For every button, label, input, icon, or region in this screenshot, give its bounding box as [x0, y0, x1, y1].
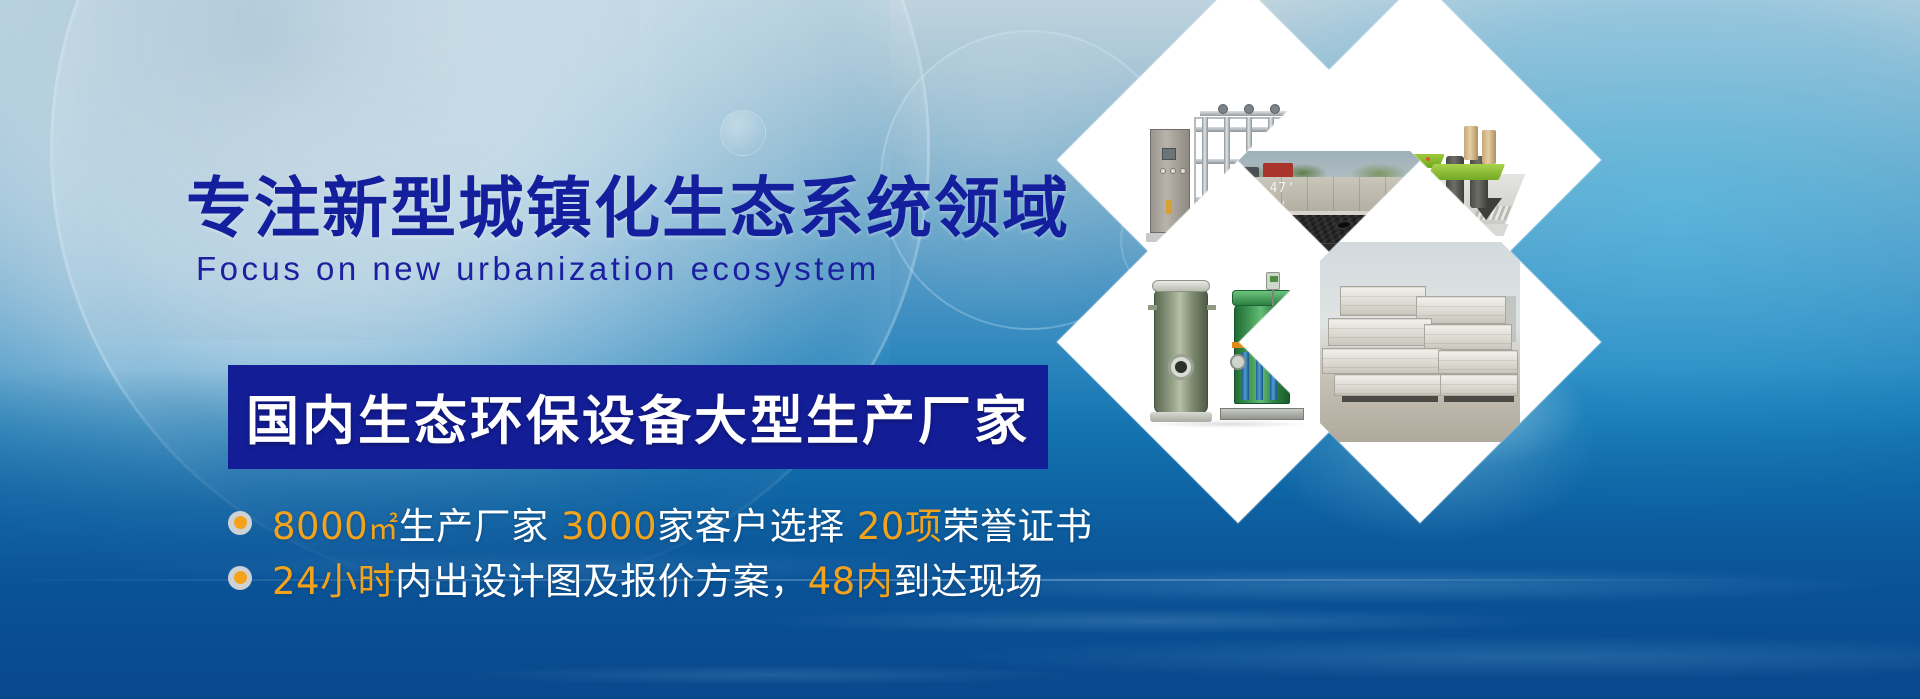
banner-bullet-item-1: 8000㎡生产厂家 3000家客户选择 20项荣誉证书 — [228, 495, 1092, 550]
banner-subheadline: Focus on new urbanization ecosystem — [196, 250, 880, 288]
banner-highlight-box-text: 国内生态环保设备大型生产厂家 — [246, 379, 1030, 455]
product-image-precast-concrete-panels — [1320, 242, 1520, 442]
banner-bullet-list: 8000㎡生产厂家 3000家客户选择 20项荣誉证书 24小时内出设计图及报价… — [228, 495, 1092, 605]
hero-banner: 专注新型城镇化生态系统领域 Focus on new urbanization … — [0, 0, 1920, 699]
bullet-text-2: 24小时内出设计图及报价方案，48内到达现场 — [272, 551, 1043, 605]
banner-bullet-item-2: 24小时内出设计图及报价方案，48内到达现场 — [228, 550, 1092, 605]
banner-headline: 专注新型城镇化生态系统领域 — [186, 176, 1070, 242]
bullet-dot-icon — [228, 566, 252, 590]
bullet-dot-icon — [228, 511, 252, 535]
product-diamond-grid: 39 47' 16'9' 2020-07-21 现场实拍 — [1120, 42, 1580, 662]
banner-copy-block: 专注新型城镇化生态系统领域 Focus on new urbanization … — [0, 0, 1100, 699]
banner-highlight-box: 国内生态环保设备大型生产厂家 — [228, 365, 1048, 469]
diamond-inner-5 — [1292, 214, 1548, 470]
bullet-text-1: 8000㎡生产厂家 3000家客户选择 20项荣誉证书 — [272, 496, 1092, 550]
